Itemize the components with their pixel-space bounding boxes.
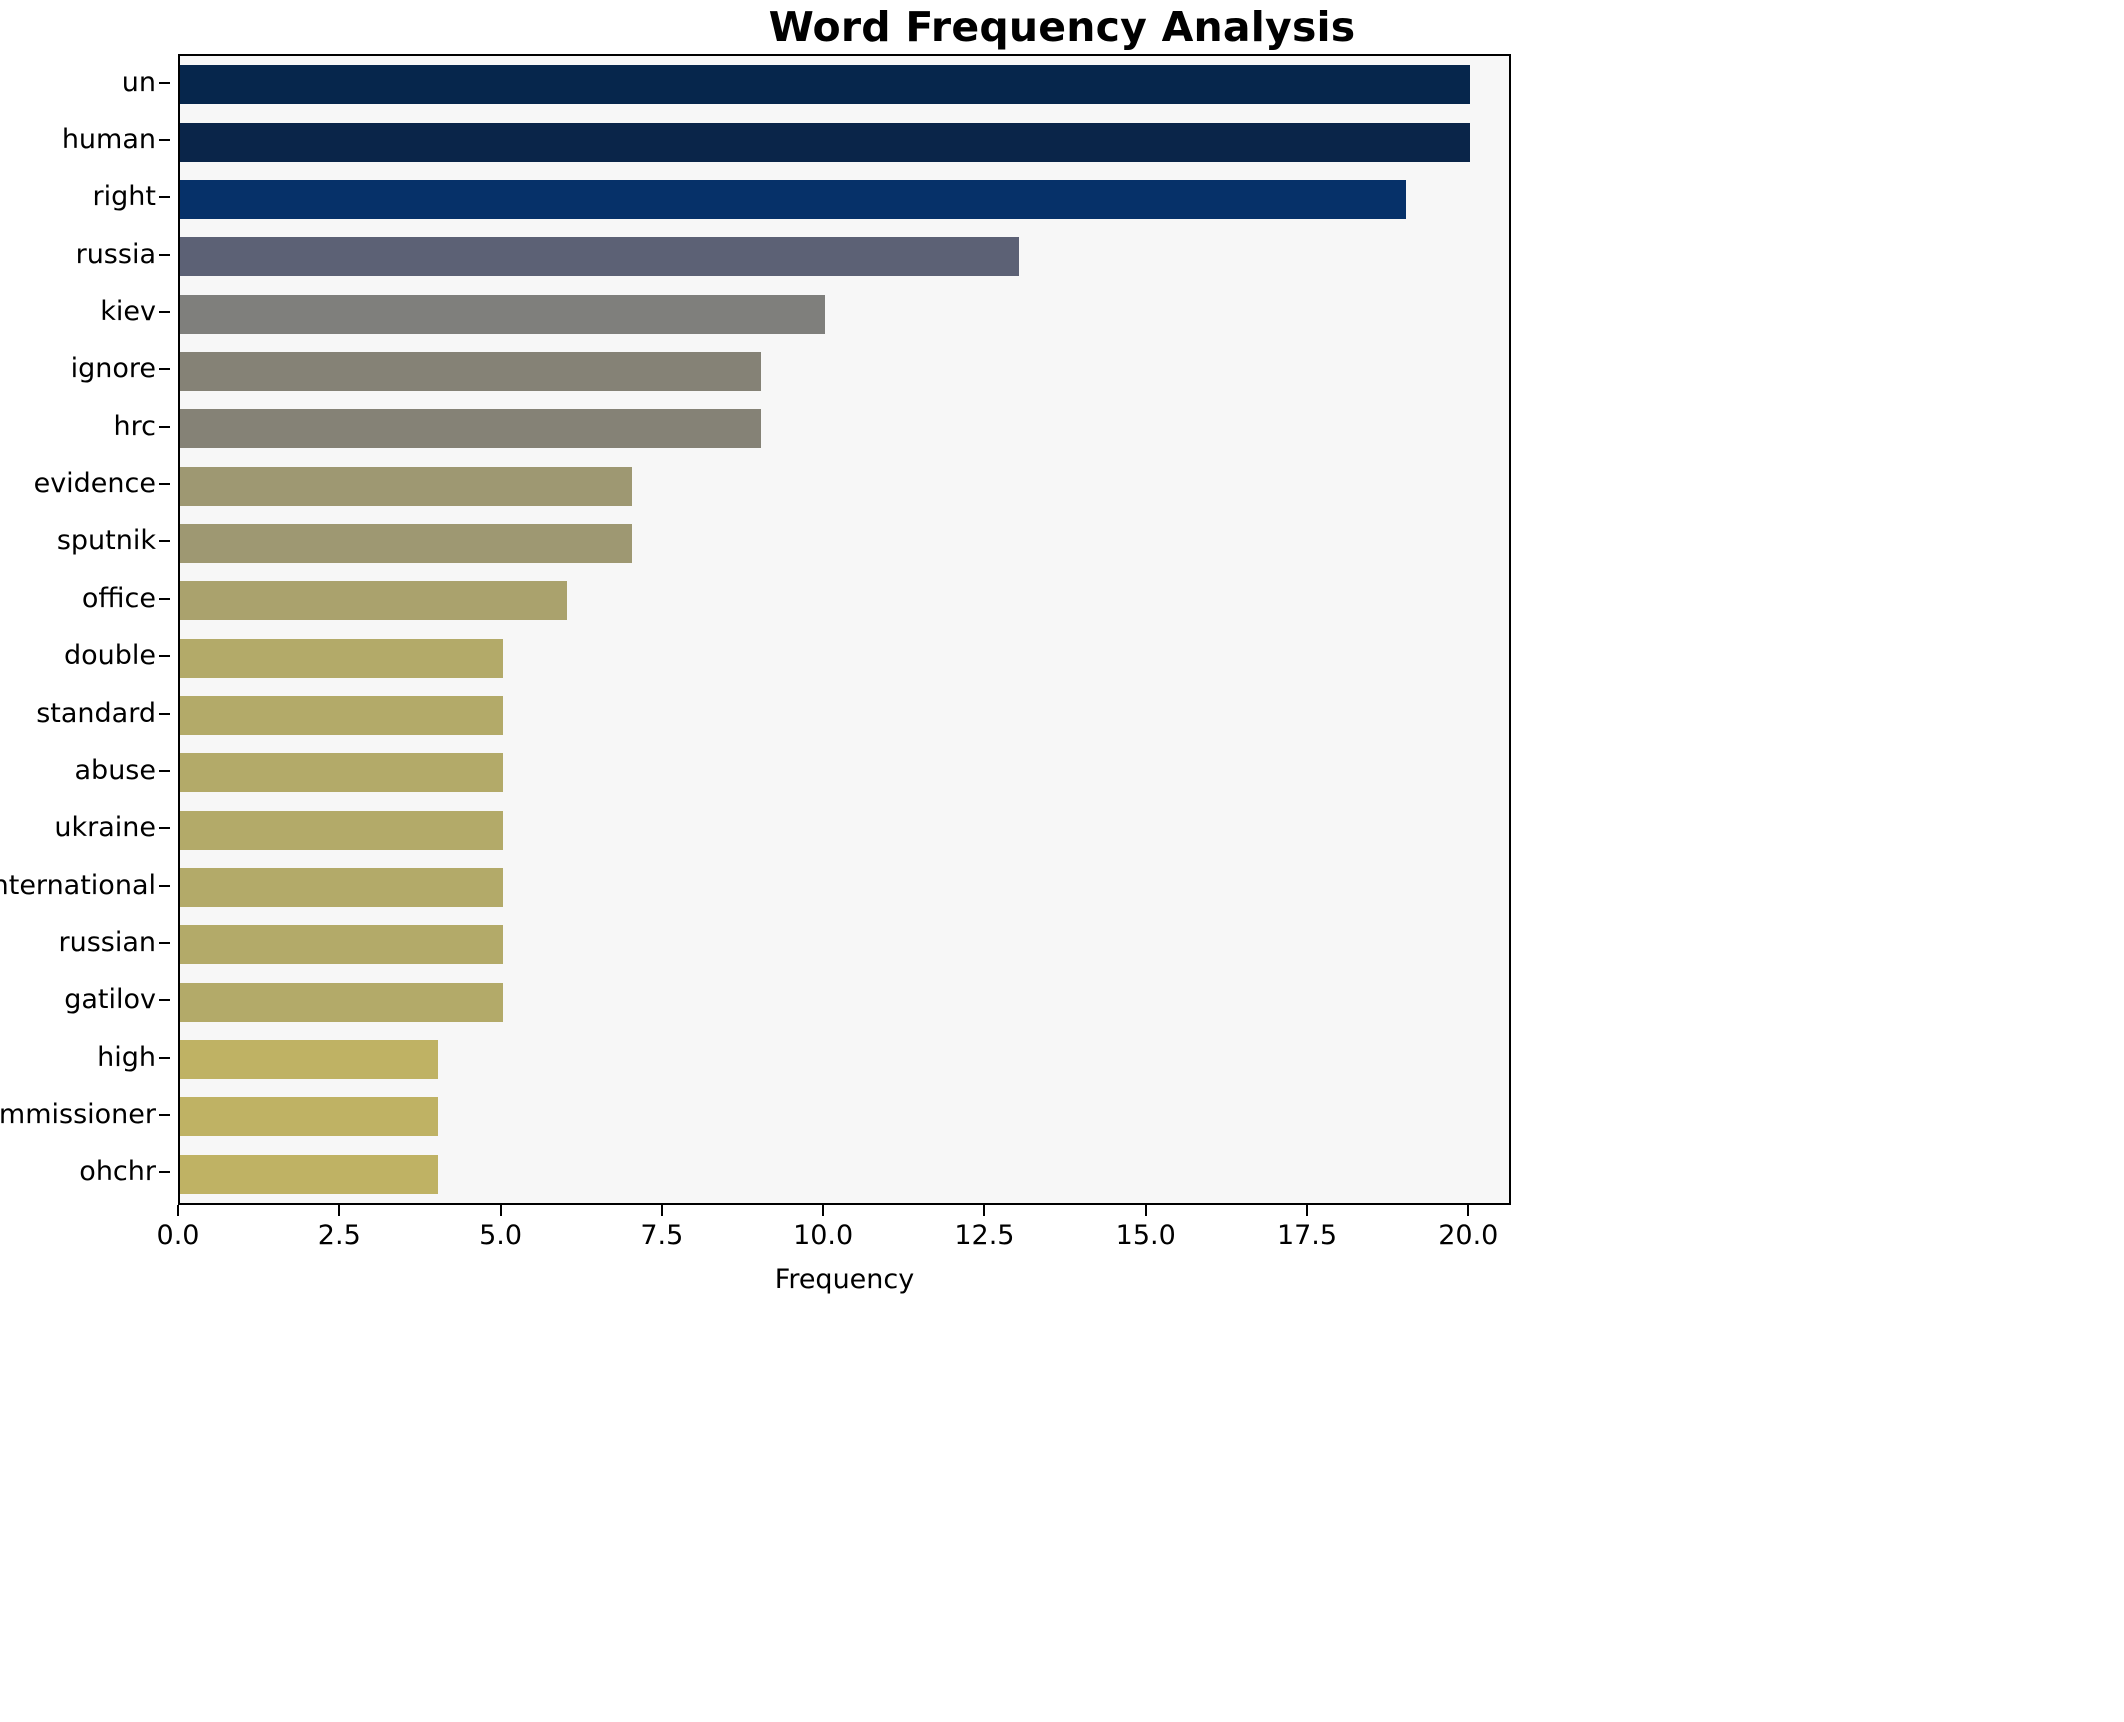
bar — [180, 123, 1470, 162]
y-tick-label: sputnik — [57, 526, 156, 556]
plot-area — [178, 54, 1511, 1205]
y-tick-label: ukraine — [54, 813, 156, 843]
y-tick-mark — [159, 368, 170, 370]
y-tick-label: human — [62, 125, 156, 155]
x-axis-title: Frequency — [178, 1263, 1511, 1297]
x-tick-mark — [1306, 1205, 1308, 1216]
x-tick-mark — [500, 1205, 502, 1216]
y-tick-mark — [159, 540, 170, 542]
bar — [180, 696, 503, 735]
chart-title: Word Frequency Analysis — [0, 2, 2124, 52]
x-tick-label: 17.5 — [1277, 1220, 1337, 1252]
x-tick-mark — [983, 1205, 985, 1216]
x-tick-label: 10.0 — [793, 1220, 853, 1252]
x-tick-label: 7.5 — [640, 1220, 683, 1252]
y-tick-mark — [159, 1171, 170, 1173]
y-axis: unhumanrightrussiakievignorehrcevidences… — [0, 54, 178, 1205]
y-tick-mark — [159, 254, 170, 256]
bar — [180, 811, 503, 850]
bar — [180, 1097, 438, 1136]
bar — [180, 983, 503, 1022]
x-tick-label: 0.0 — [157, 1220, 200, 1252]
y-tick-label: abuse — [75, 756, 156, 786]
y-tick-label: evidence — [34, 469, 156, 499]
y-tick-label: ohchr — [79, 1157, 156, 1187]
y-tick-mark — [159, 942, 170, 944]
y-tick-mark — [159, 426, 170, 428]
y-tick-label: high — [97, 1043, 156, 1073]
y-tick-label: office — [82, 584, 156, 614]
bar — [180, 639, 503, 678]
bar — [180, 868, 503, 907]
bar — [180, 180, 1406, 219]
bar — [180, 409, 761, 448]
y-tick-label: right — [93, 182, 156, 212]
bar — [180, 925, 503, 964]
y-tick-mark — [159, 827, 170, 829]
bar — [180, 524, 632, 563]
y-tick-mark — [159, 82, 170, 84]
x-tick-label: 15.0 — [1116, 1220, 1176, 1252]
chart-figure: Word Frequency Analysis unhumanrightruss… — [0, 0, 2124, 1722]
y-tick-label: hrc — [114, 412, 156, 442]
y-tick-mark — [159, 311, 170, 313]
x-tick-mark — [177, 1205, 179, 1216]
y-tick-mark — [159, 770, 170, 772]
y-tick-label: un — [122, 68, 156, 98]
y-tick-label: ignore — [71, 354, 156, 384]
y-tick-mark — [159, 655, 170, 657]
y-tick-label: standard — [36, 699, 156, 729]
y-tick-label: kiev — [100, 297, 156, 327]
x-tick-mark — [1145, 1205, 1147, 1216]
bar — [180, 295, 825, 334]
bar — [180, 753, 503, 792]
bar — [180, 65, 1470, 104]
bar — [180, 581, 567, 620]
x-tick-label: 2.5 — [318, 1220, 361, 1252]
y-tick-mark — [159, 483, 170, 485]
bars-layer — [180, 56, 1509, 1203]
y-tick-mark — [159, 139, 170, 141]
y-tick-mark — [159, 999, 170, 1001]
bar — [180, 1040, 438, 1079]
x-tick-mark — [338, 1205, 340, 1216]
x-tick-mark — [822, 1205, 824, 1216]
x-tick-label: 20.0 — [1438, 1220, 1498, 1252]
bar — [180, 352, 761, 391]
y-tick-label: double — [64, 641, 156, 671]
y-tick-label: international — [0, 871, 156, 901]
y-tick-mark — [159, 885, 170, 887]
x-tick-label: 12.5 — [954, 1220, 1014, 1252]
y-tick-mark — [159, 196, 170, 198]
y-tick-label: russian — [58, 928, 156, 958]
y-tick-mark — [159, 1057, 170, 1059]
y-tick-label: russia — [76, 240, 156, 270]
x-tick-mark — [1467, 1205, 1469, 1216]
y-tick-label: gatilov — [64, 985, 156, 1015]
x-tick-mark — [661, 1205, 663, 1216]
y-tick-mark — [159, 1114, 170, 1116]
bar — [180, 467, 632, 506]
bar — [180, 237, 1019, 276]
y-tick-mark — [159, 713, 170, 715]
y-tick-label: commissioner — [0, 1100, 156, 1130]
x-tick-label: 5.0 — [479, 1220, 522, 1252]
bar — [180, 1155, 438, 1194]
y-tick-mark — [159, 598, 170, 600]
